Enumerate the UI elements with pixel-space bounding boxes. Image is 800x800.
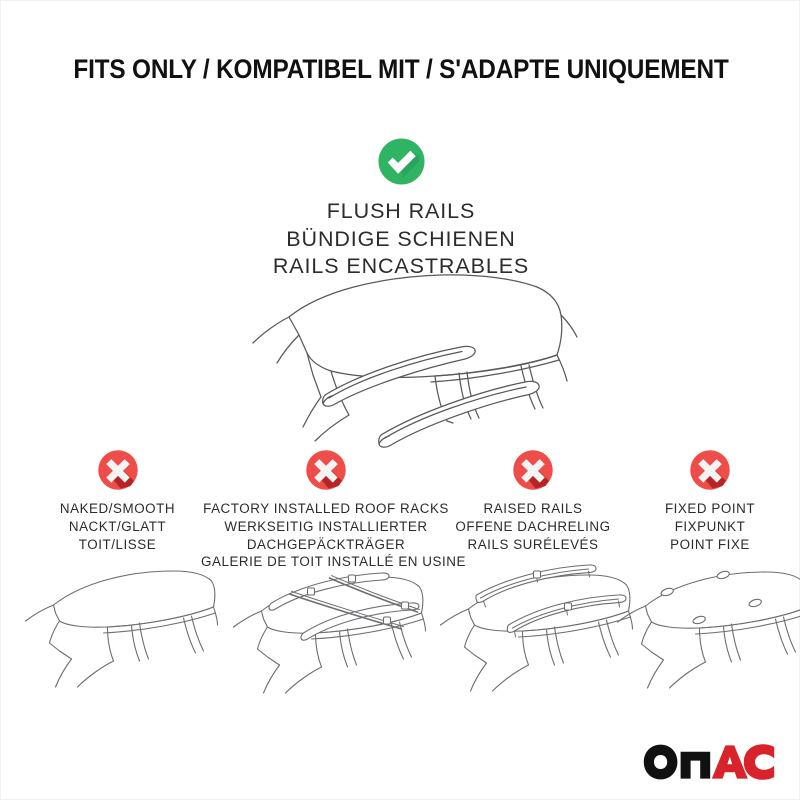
incompatible-line-de-1: WERKSEITIG INSTALLIERTER [201, 518, 451, 536]
incompatible-item-naked-smooth: NAKED/SMOOTH NACKT/GLATT TOIT/LISSE [6, 449, 229, 553]
compatible-line-de: BÜNDIGE SCHIENEN [1, 226, 800, 254]
incompatible-line-de: FIXPUNKT [619, 518, 800, 536]
x-circle-icon [512, 449, 554, 491]
incompatible-row: NAKED/SMOOTH NACKT/GLATT TOIT/LISSE [1, 449, 800, 739]
logo-letter-c [744, 744, 774, 780]
fitment-infographic: FITS ONLY / KOMPATIBEL MIT / S'ADAPTE UN… [0, 0, 800, 800]
car-roof-flush-rails-illustration [229, 269, 585, 449]
incompatible-line-en: FACTORY INSTALLED ROOF RACKS [201, 500, 451, 518]
incompatible-caption: NAKED/SMOOTH NACKT/GLATT TOIT/LISSE [6, 500, 229, 553]
incompatible-line-de-2: DACHGEPÄCKTRÄGER [201, 536, 451, 554]
check-circle-icon [377, 137, 426, 186]
x-circle-icon [689, 449, 731, 491]
logo-letter-o [644, 745, 678, 780]
incompatible-item-fixed-point: FIXED POINT FIXPUNKT POINT FIXE [619, 449, 800, 553]
incompatible-line-en: FIXED POINT [619, 500, 800, 518]
incompatible-item-raised-rails: RAISED RAILS OFFENE DACHRELING RAILS SUR… [438, 449, 628, 553]
x-circle-icon [97, 449, 139, 491]
omac-logo: OMAC [643, 743, 775, 781]
incompatible-line-de: NACKT/GLATT [6, 518, 229, 536]
car-roof-factory-crossbars-illustration [224, 555, 429, 715]
logo-letter-a [712, 745, 748, 778]
incompatible-line-fr: TOIT/LISSE [6, 536, 229, 554]
car-roof-fixed-point-illustration [608, 544, 800, 704]
compatible-line-en: FLUSH RAILS [1, 198, 800, 226]
incompatible-line-de: OFFENE DACHRELING [438, 518, 628, 536]
incompatible-line-en: RAISED RAILS [438, 500, 628, 518]
compatible-block: FLUSH RAILS BÜNDIGE SCHIENEN RAILS ENCAS… [1, 137, 800, 281]
incompatible-item-factory-roof-racks: FACTORY INSTALLED ROOF RACKS WERKSEITIG … [201, 449, 451, 571]
car-roof-raised-rails-illustration [431, 549, 636, 709]
page-title: FITS ONLY / KOMPATIBEL MIT / S'ADAPTE UN… [33, 54, 769, 85]
incompatible-line-en: NAKED/SMOOTH [6, 500, 229, 518]
car-roof-naked-illustration [15, 555, 220, 715]
x-circle-icon [305, 449, 347, 491]
logo-letter-m [681, 752, 711, 779]
incompatible-caption: RAISED RAILS OFFENE DACHRELING RAILS SUR… [438, 500, 628, 553]
